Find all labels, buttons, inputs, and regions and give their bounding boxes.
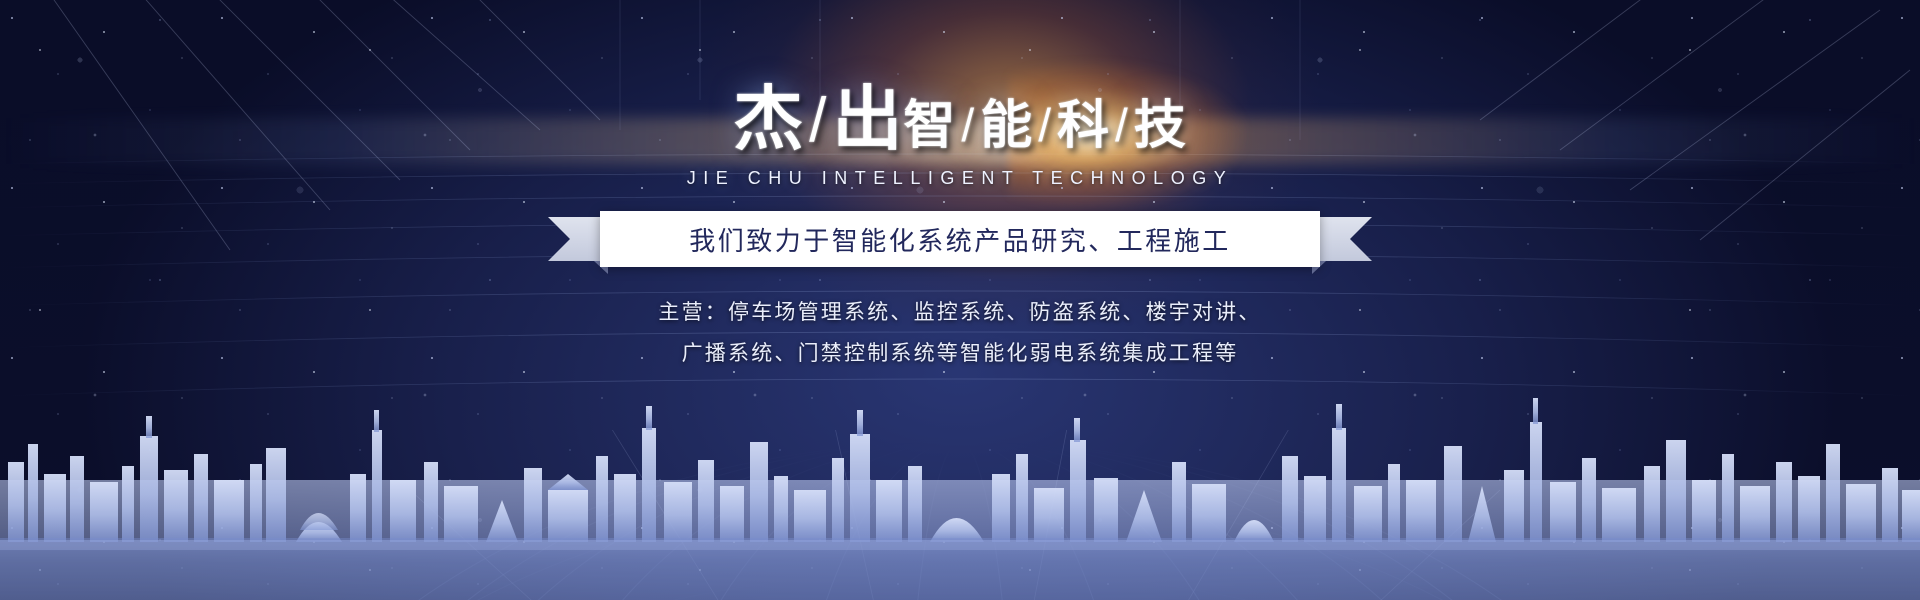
description-line-2: 广播系统、门禁控制系统等智能化弱电系统集成工程等 (0, 338, 1920, 370)
page-title: 杰/出智/能/科/技 (0, 0, 1920, 154)
hero-banner: 杰/出智/能/科/技 JIE CHU INTELLIGENT TECHNOLOG… (0, 0, 1920, 600)
ribbon-tail-left (548, 217, 606, 261)
title-char-6: 技 (1134, 100, 1187, 152)
wireframe-globe-icon (180, 430, 1740, 600)
title-char-4: 能 (980, 100, 1033, 152)
description-line-1: 主营：停车场管理系统、监控系统、防盗系统、楼宇对讲、 (0, 297, 1920, 329)
description-block: 主营：停车场管理系统、监控系统、防盗系统、楼宇对讲、 广播系统、门禁控制系统等智… (0, 297, 1920, 369)
tagline-ribbon: 我们致力于智能化系统产品研究、工程施工 (600, 211, 1320, 267)
title-slash-2: / (956, 102, 980, 148)
title-char-5: 科 (1057, 100, 1110, 152)
ribbon-plate: 我们致力于智能化系统产品研究、工程施工 (600, 211, 1320, 267)
banner-content: 杰/出智/能/科/技 JIE CHU INTELLIGENT TECHNOLOG… (0, 0, 1920, 378)
title-char-3: 智 (903, 100, 956, 152)
title-slash-4: / (1110, 102, 1134, 148)
title-slash-1: / (804, 90, 832, 152)
city-skyline-icon (0, 370, 1920, 600)
english-subtitle: JIE CHU INTELLIGENT TECHNOLOGY (0, 168, 1920, 189)
title-slash-3: / (1033, 102, 1057, 148)
ribbon-label: 我们致力于智能化系统产品研究、工程施工 (689, 221, 1231, 258)
water-reflection (0, 538, 1920, 600)
title-char-1: 杰 (733, 84, 804, 154)
ribbon-tail-right (1314, 217, 1372, 261)
title-char-2: 出 (832, 84, 903, 154)
